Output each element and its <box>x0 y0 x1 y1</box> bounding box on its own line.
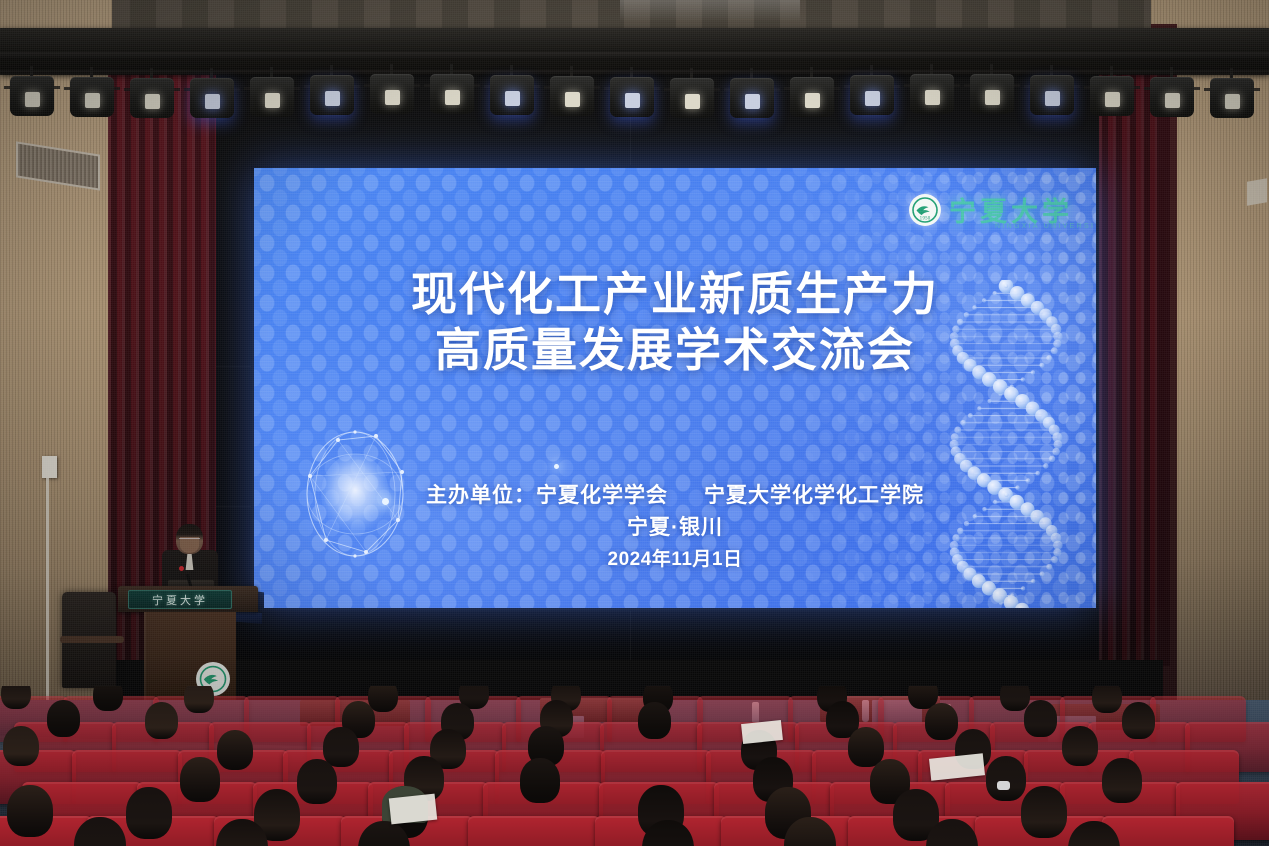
audience-member <box>297 759 337 804</box>
stage-light-fixture <box>1086 66 1138 124</box>
audience-member <box>1024 700 1057 737</box>
stage-light-fixture <box>66 67 118 125</box>
organizer-2: 宁夏大学化学化工学院 <box>704 484 924 507</box>
led-screen: 1958 宁夏大学 NINGXIA UNIVERSITY 现代化工产业新质生产力… <box>254 168 1096 608</box>
auditorium-photo: 1958 宁夏大学 NINGXIA UNIVERSITY 现代化工产业新质生产力… <box>0 0 1269 846</box>
organizers-label: 主办单位： <box>426 484 536 507</box>
face-mask <box>997 781 1010 790</box>
handout-paper <box>389 794 437 825</box>
speaker-person <box>160 524 220 592</box>
presentation-title: 现代化工产业新质生产力 高质量发展学术交流会 <box>254 266 1096 378</box>
stage-light-fixture <box>1026 65 1078 123</box>
audience-member <box>7 785 53 837</box>
title-line-1: 现代化工产业新质生产力 <box>254 266 1096 322</box>
stage-light-fixture <box>906 64 958 122</box>
stage-light-fixture <box>786 67 838 125</box>
stage-light-fixture <box>6 66 58 124</box>
presentation-subtitle: 主办单位：宁夏化学学会宁夏大学化学化工学院 宁夏·银川 2024年11月1日 <box>254 480 1096 576</box>
wall-cable <box>46 478 49 708</box>
location-line: 宁夏·银川 <box>254 512 1096 544</box>
stage-light-fixture <box>366 64 418 122</box>
audience-area <box>0 686 1269 846</box>
stage-light-fixture <box>966 64 1018 122</box>
stage-light-fixture <box>1146 67 1198 125</box>
right-wall-fixture <box>1247 178 1267 206</box>
stage-light-fixture <box>846 65 898 123</box>
organizer-1: 宁夏化学学会 <box>536 484 668 507</box>
stage-light-fixture <box>426 64 478 122</box>
title-line-2: 高质量发展学术交流会 <box>254 322 1096 378</box>
audience-member <box>184 686 214 713</box>
screen-glow-particle <box>554 464 559 469</box>
stage-light-fixture <box>186 68 238 126</box>
audience-member <box>925 703 958 740</box>
eyeglasses-icon <box>179 538 200 544</box>
stage-light-fixture <box>666 68 718 126</box>
stage-light-fixture <box>246 67 298 125</box>
audience-member <box>1092 686 1122 713</box>
wall-sensor-box <box>42 456 57 478</box>
ningxia-university-emblem-icon: 1958 <box>909 194 941 226</box>
stage-curtain-right <box>1099 30 1157 700</box>
stage-light-fixture <box>486 65 538 123</box>
audience-member <box>1 686 31 709</box>
handout-paper <box>741 720 783 744</box>
podium-top: 宁夏大学 <box>118 586 258 612</box>
speaker-badge <box>179 566 184 571</box>
stage-light-fixture <box>306 65 358 123</box>
audience-member <box>1062 726 1098 766</box>
audience-member <box>180 757 220 802</box>
university-logo: 1958 宁夏大学 NINGXIA UNIVERSITY <box>909 190 1073 229</box>
stage-light-fixture <box>546 66 598 124</box>
audience-member <box>638 702 671 739</box>
stage-light-fixture <box>126 68 178 126</box>
audience-member <box>126 787 172 839</box>
auditorium-seat <box>468 816 600 846</box>
audience-member <box>93 686 123 711</box>
stage-light-row <box>0 66 1269 128</box>
ceiling-highlight <box>620 0 800 22</box>
stage-chair-arm <box>60 636 124 643</box>
audience-member <box>145 702 178 739</box>
audience-member <box>47 700 80 737</box>
audience-member <box>986 756 1026 801</box>
truss-bar-upper <box>0 52 1269 60</box>
stage-light-fixture <box>726 68 778 126</box>
organizers-line: 主办单位：宁夏化学学会宁夏大学化学化工学院 <box>254 480 1096 512</box>
audience-member <box>1021 786 1067 838</box>
audience-member <box>1102 758 1142 803</box>
audience-member <box>3 726 39 766</box>
auditorium-seat <box>1102 816 1234 846</box>
podium-plaque-text: 宁夏大学 <box>152 592 208 608</box>
audience-member <box>1122 702 1155 739</box>
podium-nameplate: 宁夏大学 <box>128 590 232 609</box>
date-line: 2024年11月1日 <box>254 544 1096 576</box>
stage-light-fixture <box>1206 68 1258 126</box>
audience-member <box>323 727 359 767</box>
stage-light-fixture <box>606 67 658 125</box>
audience-member <box>217 730 253 770</box>
wall-vent-grille <box>16 141 100 190</box>
university-name-en: NINGXIA UNIVERSITY <box>995 223 1096 230</box>
svg-text:1958: 1958 <box>920 215 931 220</box>
audience-member <box>520 758 560 803</box>
